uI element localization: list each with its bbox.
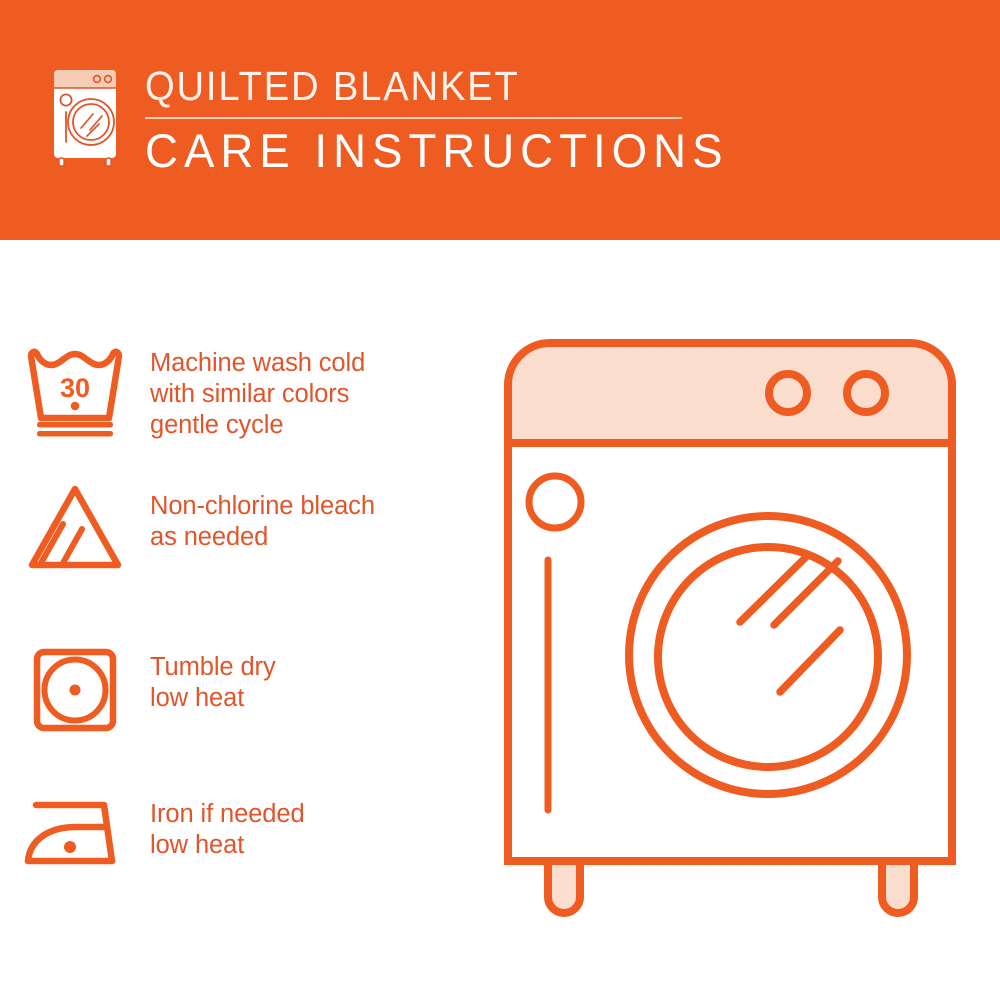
care-instruction-item: Tumble dry low heat [0, 638, 480, 736]
care-instruction-text: Non-chlorine bleach as needed [150, 477, 375, 553]
care-text-line: Iron if needed [150, 799, 305, 830]
page-title-secondary: CARE INSTRUCTIONS [145, 125, 729, 177]
care-text-line: Tumble dry [150, 652, 276, 683]
care-symbol-wrapper [0, 477, 150, 575]
header-title-block: QUILTED BLANKET CARE INSTRUCTIONS [145, 62, 747, 177]
care-instruction-item: 30 Machine wash cold with similar colors… [0, 340, 480, 441]
care-instruction-item: Iron if needed low heat [0, 785, 480, 877]
front-load-washing-machine-illustration [490, 325, 970, 945]
care-symbol-wrapper [0, 638, 150, 736]
care-instruction-text: Iron if needed low heat [150, 785, 305, 861]
wash-tub-30-gentle-icon: 30 [21, 342, 129, 438]
leg-right [882, 861, 914, 913]
tumble-dry-low-heat-icon [27, 640, 123, 736]
header-content: QUILTED BLANKET CARE INSTRUCTIONS [45, 62, 747, 177]
iron-low-heat-icon [20, 787, 130, 877]
care-instruction-text: Machine wash cold with similar colors ge… [150, 340, 365, 441]
care-text-line: Machine wash cold [150, 348, 365, 379]
care-instruction-item: Non-chlorine bleach as needed [0, 477, 480, 575]
title-divider [145, 117, 682, 119]
care-text-line: gentle cycle [150, 410, 365, 441]
header-banner: QUILTED BLANKET CARE INSTRUCTIONS [0, 0, 1000, 240]
machine-body [508, 443, 952, 861]
care-symbol-wrapper: 30 [0, 340, 150, 438]
non-chlorine-bleach-triangle-icon [22, 479, 128, 575]
wash-temperature-label: 30 [60, 373, 90, 403]
care-text-line: Non-chlorine bleach [150, 491, 375, 522]
care-instructions-infographic: QUILTED BLANKET CARE INSTRUCTIONS 30 [0, 0, 1000, 1000]
care-text-line: low heat [150, 830, 305, 861]
care-text-line: with similar colors [150, 379, 365, 410]
page-title-primary: QUILTED BLANKET [145, 64, 704, 108]
leg-left [548, 861, 580, 913]
washing-machine-icon [45, 62, 127, 172]
care-instruction-text: Tumble dry low heat [150, 638, 276, 714]
care-instruction-list: 30 Machine wash cold with similar colors… [0, 240, 480, 1000]
care-text-line: as needed [150, 522, 375, 553]
care-text-line: low heat [150, 683, 276, 714]
care-symbol-wrapper [0, 785, 150, 877]
